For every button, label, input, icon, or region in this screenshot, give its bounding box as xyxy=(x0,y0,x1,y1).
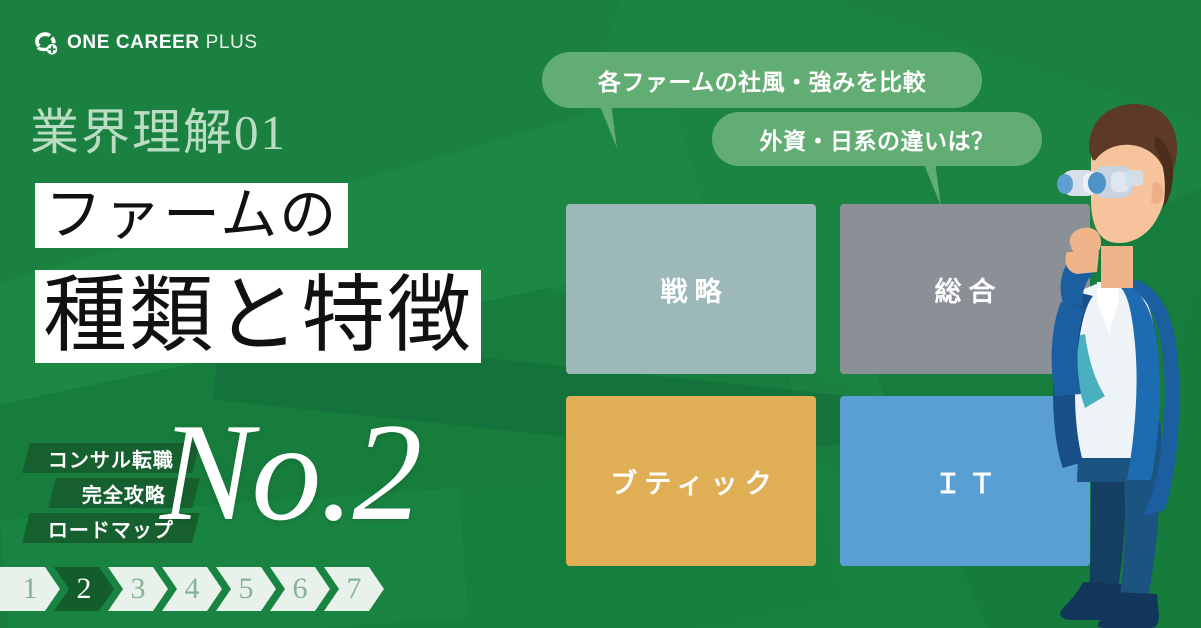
series-tag-label: コンサル転職 xyxy=(48,444,174,473)
step-item-5[interactable]: 5 xyxy=(216,567,276,611)
series-tag-label: 完全攻略 xyxy=(82,479,166,508)
headline-line-2: 種類と特徴 xyxy=(35,270,481,363)
speech-bubble-2: 外資・日系の違いは？ xyxy=(712,112,1042,166)
episode-number: No.2 xyxy=(160,403,420,543)
category-label: 戦略 xyxy=(654,270,729,309)
brand-name-light: PLUS xyxy=(206,32,258,53)
step-item-3[interactable]: 3 xyxy=(108,567,168,611)
kicker-text: 業界理解01 xyxy=(30,108,287,157)
brand-wordmark: ONE CAREER PLUS xyxy=(67,32,258,54)
step-label: 6 xyxy=(293,572,308,606)
banner-canvas: ONE CAREER PLUS 業界理解01 ファームの 種類と特徴 コンサル転… xyxy=(0,0,1201,628)
step-label: 7 xyxy=(347,572,362,606)
step-label: 2 xyxy=(77,572,92,606)
step-label: 4 xyxy=(185,572,200,606)
category-box-strategy[interactable]: 戦略 xyxy=(566,204,816,374)
step-item-2[interactable]: 2 xyxy=(54,567,114,611)
step-item-4[interactable]: 4 xyxy=(162,567,222,611)
businessman-with-binoculars-illustration xyxy=(1005,96,1201,628)
step-label: 1 xyxy=(23,572,38,606)
brand-name-bold: ONE CAREER xyxy=(67,32,200,53)
headline-line-1: ファームの xyxy=(35,183,348,248)
step-label: 3 xyxy=(131,572,146,606)
step-item-6[interactable]: 6 xyxy=(270,567,330,611)
speech-bubble-tail xyxy=(599,104,633,148)
speech-bubble-1: 各ファームの社風・強みを比較 xyxy=(542,52,982,108)
series-tag-label: ロードマップ xyxy=(48,514,174,543)
brand-logo[interactable]: ONE CAREER PLUS xyxy=(32,30,258,56)
speech-bubble-tail xyxy=(923,162,957,206)
category-box-boutique[interactable]: ブティック xyxy=(566,396,816,566)
category-label: 総合 xyxy=(928,270,1003,309)
category-label: ＩＴ xyxy=(928,462,1003,501)
step-item-1[interactable]: 1 xyxy=(0,567,60,611)
onecareer-swoosh-plus-icon xyxy=(32,30,58,56)
step-label: 5 xyxy=(239,572,254,606)
category-label: ブティック xyxy=(603,462,778,501)
step-indicator: 1 2 3 4 5 6 7 xyxy=(0,567,378,611)
step-item-7[interactable]: 7 xyxy=(324,567,384,611)
